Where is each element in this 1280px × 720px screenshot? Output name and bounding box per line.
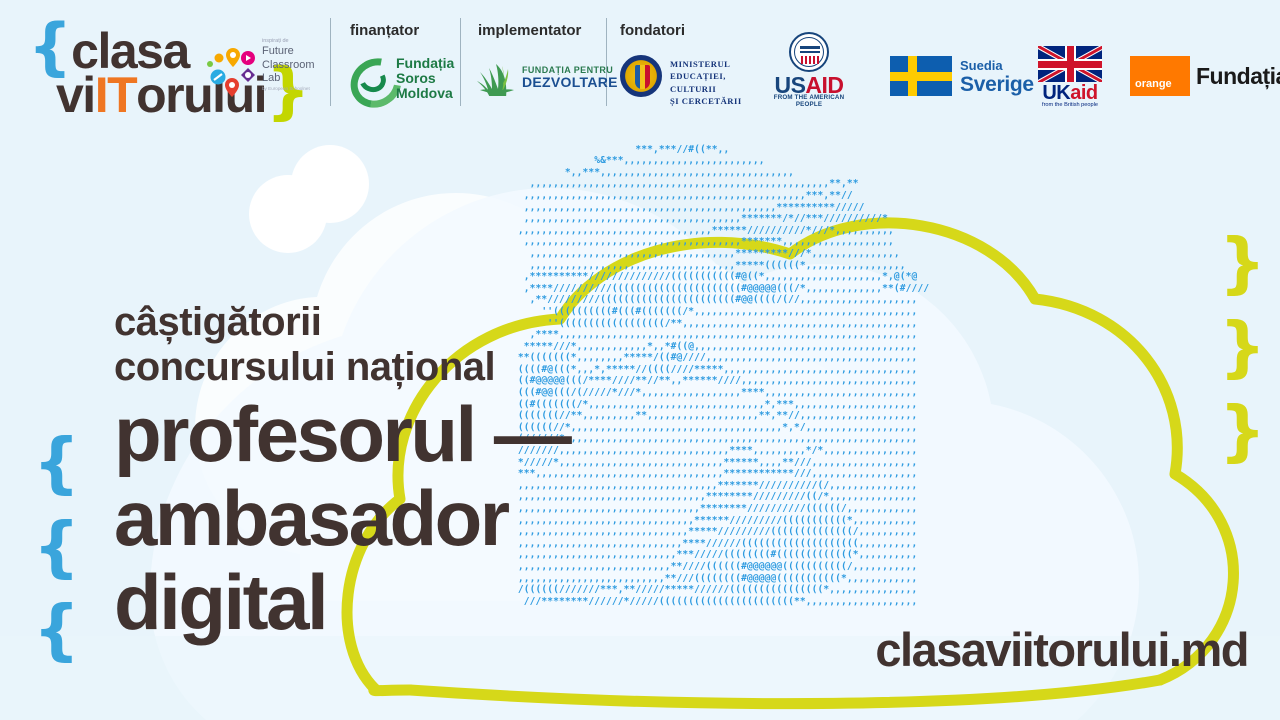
soros-line-3: Moldova — [396, 86, 454, 101]
poster-canvas: ***,***//#((**,, %&***,,,,,,,,,,,,,,,,,,… — [0, 124, 1280, 720]
orange-wordmark: orange — [1135, 78, 1172, 90]
sponsor-label-fondatori: fondatori — [620, 22, 685, 39]
logo-ukaid[interactable]: UKaid from the British people — [1032, 46, 1108, 112]
sponsor-label-finantator: finanțator — [350, 22, 419, 39]
orange-square-icon: orange — [1130, 56, 1190, 96]
divider-2 — [460, 18, 461, 106]
header-bar: { clasa vi IT orului } — [0, 0, 1280, 124]
dezvoltare-line-2: DEZVOLTARE — [522, 75, 618, 90]
fcl-by-label: by European Schoolnet — [262, 86, 328, 92]
moldova-coat-of-arms-icon — [620, 55, 662, 97]
fcl-inspired-label: inspirați de — [262, 38, 328, 45]
headline-block: câștigătorii concursului național profes… — [114, 300, 569, 643]
ukaid-tagline: from the British people — [1032, 102, 1108, 108]
logo-fundatia-orange[interactable]: orange Fundația — [1130, 48, 1276, 96]
fcl-dots-icon — [204, 46, 260, 98]
future-classroom-lab-logo: inspirați de Future Classroom Lab by Eur… — [204, 38, 326, 100]
logo-usaid[interactable]: USAID FROM THE AMERICAN PEOPLE — [765, 32, 853, 106]
ukaid-word-uk: UK — [1042, 82, 1070, 104]
soros-line-2: Soros — [396, 71, 454, 86]
ministry-line-2: EDUCAȚIEI, CULTURII — [670, 70, 760, 95]
logo-fundatia-pentru-dezvoltare[interactable]: FUNDAȚIA PENTRU DEZVOLTARE — [476, 58, 600, 104]
usaid-tagline: FROM THE AMERICAN PEOPLE — [765, 94, 853, 108]
brand-logo[interactable]: { clasa vi IT orului } — [28, 16, 298, 112]
brand-word-vi: vi — [56, 70, 95, 120]
dezvoltare-text-block: FUNDAȚIA PENTRU DEZVOLTARE — [522, 65, 618, 90]
left-brace-2-icon: { — [33, 514, 80, 580]
union-jack-icon — [1038, 46, 1102, 82]
usaid-seal-icon — [789, 32, 829, 72]
logo-fundatia-soros-moldova[interactable]: Fundația Soros Moldova — [350, 55, 458, 107]
ministry-line-1: MINISTERUL — [670, 58, 760, 70]
divider-3 — [606, 18, 607, 106]
sweden-flag-icon — [890, 56, 952, 96]
brand-word-it: IT — [95, 70, 136, 120]
dezvoltare-leaf-icon — [476, 60, 518, 96]
right-brace-1-icon: } — [1219, 230, 1266, 296]
soros-line-1: Fundația — [396, 56, 454, 71]
divider-1 — [330, 18, 331, 106]
left-brace-3-icon: { — [33, 597, 80, 663]
sweden-label-ro: Suedia — [960, 58, 1003, 73]
fcl-text-block: inspirați de Future Classroom Lab by Eur… — [262, 38, 328, 92]
fcl-name-line-1: Future — [262, 45, 328, 58]
sweden-label-sv: Sverige — [960, 73, 1034, 97]
fcl-name-line-2: Classroom Lab — [262, 59, 328, 86]
ukaid-word-aid: aid — [1070, 82, 1097, 104]
headline-line-4: ambasador — [114, 478, 569, 558]
ministry-line-3: ȘI CERCETĂRII — [670, 95, 760, 107]
sponsor-label-implementator: implementator — [478, 22, 581, 39]
website-url[interactable]: clasaviitorului.md — [875, 622, 1248, 677]
headline-line-5: digital — [114, 562, 569, 642]
headline-line-3: profesorul — — [114, 394, 569, 474]
headline-line-1: câștigătorii — [114, 300, 569, 345]
soros-text-block: Fundația Soros Moldova — [396, 56, 454, 101]
right-brace-2-icon: } — [1219, 314, 1266, 380]
headline-line-2: concursului național — [114, 345, 569, 390]
ministry-text-block: MINISTERUL EDUCAȚIEI, CULTURII ȘI CERCET… — [670, 58, 760, 108]
orange-fundatia-label: Fundația — [1196, 63, 1280, 90]
logo-ministerul-educatiei[interactable]: MINISTERUL EDUCAȚIEI, CULTURII ȘI CERCET… — [620, 52, 760, 102]
right-brace-3-icon: } — [1219, 398, 1266, 464]
left-brace-1-icon: { — [33, 430, 80, 496]
